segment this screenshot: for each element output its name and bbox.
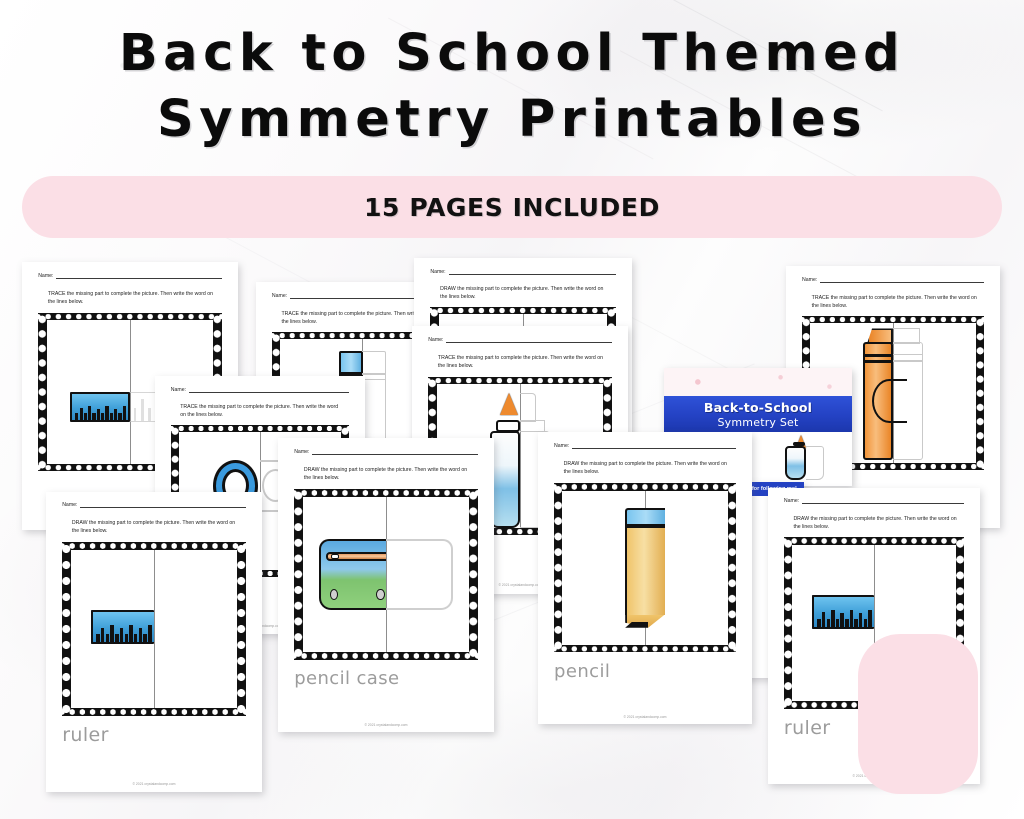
page-title-line-1: Back to School Themed: [0, 24, 1024, 84]
instruction-text: DRAW the missing part to complete the pi…: [564, 460, 731, 476]
glue-bottle-clipart: [781, 435, 826, 481]
copyright-footer: © 2021 crystalandcomp.com: [46, 782, 262, 786]
cover-title-bottom: Symmetry Set: [718, 416, 799, 429]
instruction-text: DRAW the missing part to complete the pi…: [793, 515, 958, 531]
name-row: Name:: [430, 269, 615, 275]
header: Back to School Themed Symmetry Printable…: [0, 0, 1024, 150]
pencil-case-clipart: [319, 539, 452, 610]
ruler-clipart: [812, 595, 936, 629]
name-label: Name:: [554, 443, 569, 449]
name-row: Name:: [428, 337, 612, 343]
name-label: Name:: [802, 277, 817, 283]
name-label: Name:: [272, 293, 287, 299]
instruction-text: TRACE the missing part to complete the p…: [812, 294, 979, 310]
name-row: Name:: [554, 443, 736, 449]
picture-frame: [62, 542, 246, 716]
name-input-line[interactable]: [56, 274, 221, 279]
name-label: Name:: [171, 387, 186, 393]
name-input-line[interactable]: [572, 444, 736, 449]
name-row: Name:: [294, 449, 478, 455]
cover-title-banner: Back-to-School Symmetry Set: [664, 396, 852, 431]
symmetry-canvas[interactable]: [71, 550, 238, 708]
traceable-word: pencil case: [294, 668, 399, 689]
cover-title-top: Back-to-School: [704, 400, 812, 415]
instruction-text: TRACE the missing part to complete the p…: [438, 354, 606, 370]
name-label: Name:: [784, 498, 799, 504]
instruction-text: DRAW the missing part to complete the pi…: [304, 466, 472, 482]
instruction-text: TRACE the missing part to complete the p…: [48, 290, 216, 306]
traceable-word: pencil: [554, 661, 610, 682]
name-label: Name:: [38, 273, 53, 279]
symmetry-canvas[interactable]: [303, 497, 470, 652]
worksheet-pencil[interactable]: Name: DRAW the missing part to complete …: [538, 432, 752, 724]
name-input-line[interactable]: [449, 270, 616, 275]
worksheet-ruler-bottom-left[interactable]: Name: DRAW the missing part to complete …: [46, 492, 262, 792]
traceable-word: ruler: [784, 717, 831, 739]
name-row: Name:: [38, 273, 222, 279]
pencil-clipart: [625, 508, 665, 628]
name-label: Name:: [430, 269, 445, 275]
name-row: Name:: [802, 277, 984, 283]
name-row: Name:: [62, 502, 246, 508]
name-label: Name:: [294, 449, 309, 455]
name-input-line[interactable]: [312, 450, 477, 455]
cover-pattern-strip: [664, 368, 852, 399]
name-input-line[interactable]: [80, 503, 245, 508]
pink-decorative-blob: [858, 634, 978, 794]
crayon-clipart: [863, 328, 922, 460]
name-input-line[interactable]: [189, 388, 349, 393]
picture-frame: [554, 483, 736, 652]
instruction-text: DRAW the missing part to complete the pi…: [440, 285, 610, 301]
worksheet-pencil-case[interactable]: Name: DRAW the missing part to complete …: [278, 438, 494, 732]
copyright-footer: © 2021 crystalandcomp.com: [278, 723, 494, 727]
instruction-text: TRACE the missing part to complete the p…: [180, 403, 344, 419]
name-row: Name:: [784, 498, 964, 504]
pages-included-badge: 15 PAGES INCLUDED: [22, 176, 1002, 238]
name-row: Name:: [171, 387, 350, 393]
page-title-line-2: Symmetry Printables: [0, 90, 1024, 150]
name-input-line[interactable]: [802, 499, 964, 504]
picture-frame: [294, 489, 478, 660]
name-input-line[interactable]: [820, 278, 984, 283]
instruction-text: DRAW the missing part to complete the pi…: [72, 519, 240, 535]
ruler-clipart: [91, 610, 218, 645]
symmetry-canvas[interactable]: [562, 491, 727, 645]
pages-included-label: 15 PAGES INCLUDED: [364, 193, 660, 222]
name-label: Name:: [62, 502, 77, 508]
name-input-line[interactable]: [446, 338, 611, 343]
name-label: Name:: [428, 337, 443, 343]
traceable-word: ruler: [62, 724, 109, 746]
copyright-footer: © 2021 crystalandcomp.com: [538, 715, 752, 719]
